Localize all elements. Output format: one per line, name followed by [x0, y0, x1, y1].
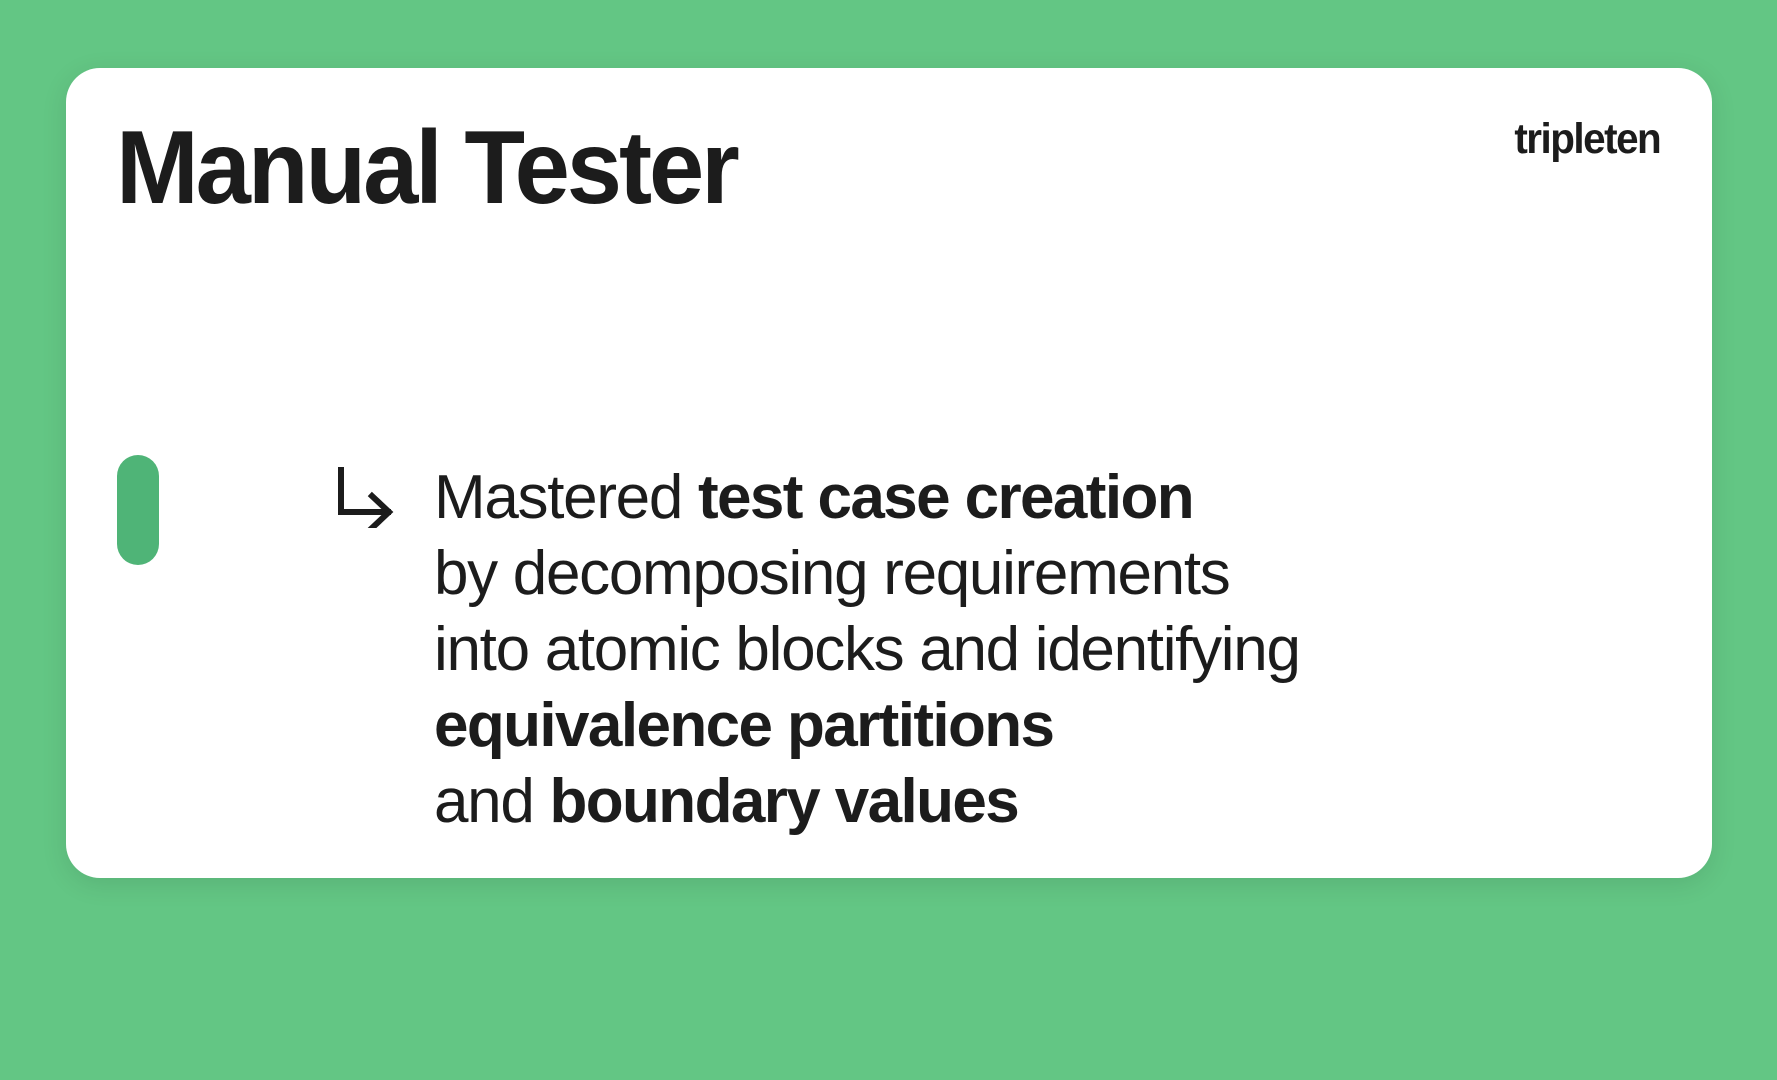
- body-line: into atomic blocks and identifying: [334, 612, 1654, 688]
- slide-canvas: Manual Tester tripleten Mastered test ca…: [0, 0, 1777, 1080]
- achievement-text-block: Mastered test case creation by decomposi…: [334, 460, 1654, 840]
- tripleten-logo: tripleten: [1514, 118, 1660, 161]
- body-line-text: and boundary values: [434, 764, 1654, 840]
- body-line: by decomposing requirements: [334, 536, 1654, 612]
- content-card: Manual Tester tripleten Mastered test ca…: [66, 68, 1712, 878]
- text-segment: into atomic blocks and identifying: [434, 615, 1300, 684]
- text-segment-emphasis: test case creation: [698, 463, 1193, 532]
- body-line-text: into atomic blocks and identifying: [434, 612, 1654, 688]
- text-segment: and: [434, 767, 549, 836]
- body-line-text: Mastered test case creation: [434, 460, 1654, 536]
- text-segment: Mastered: [434, 463, 698, 532]
- text-segment-emphasis: boundary values: [549, 767, 1018, 836]
- body-line: and boundary values: [334, 764, 1654, 840]
- page-title: Manual Tester: [116, 116, 737, 220]
- text-segment: by decomposing requirements: [434, 539, 1229, 608]
- text-segment-emphasis: equivalence partitions: [434, 691, 1053, 760]
- body-line: equivalence partitions: [334, 688, 1654, 764]
- body-line: Mastered test case creation: [334, 460, 1654, 536]
- arrow-turn-down-right-icon: [334, 460, 434, 528]
- body-line-text: equivalence partitions: [434, 688, 1654, 764]
- accent-pill-decoration: [117, 455, 159, 565]
- body-line-text: by decomposing requirements: [434, 536, 1654, 612]
